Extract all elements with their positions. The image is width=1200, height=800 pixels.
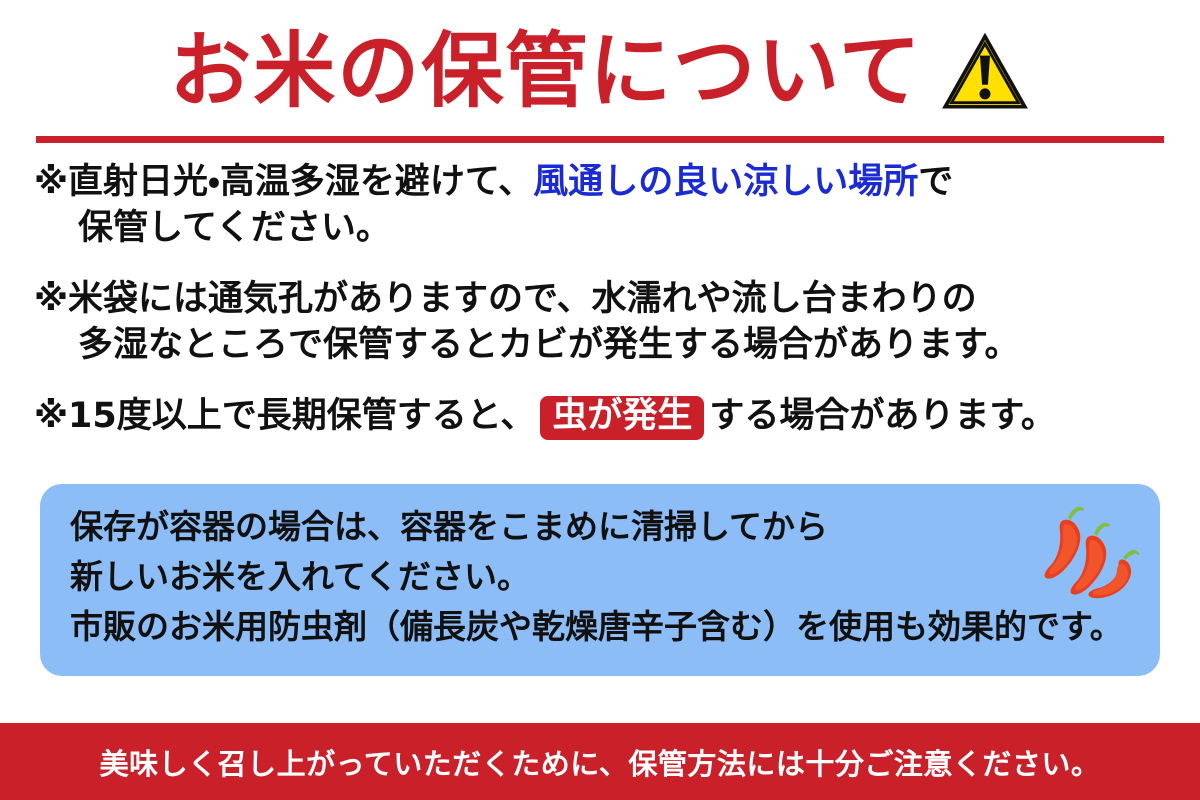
title-divider	[36, 136, 1164, 143]
rice-storage-poster: お米の保管について ※直射日光・高温多湿を避けて、風通しの良い涼しい場所で 保管…	[0, 0, 1200, 800]
note-3-badge-insect-warning: 虫が発生	[540, 396, 704, 440]
note-item-3: ※15度以上で長期保管すると、虫が発生する場合があります。	[0, 394, 1200, 440]
note-item-1: ※直射日光・高温多湿を避けて、風通しの良い涼しい場所で 保管してください。	[0, 160, 1200, 251]
note-1-suffix: で	[918, 162, 953, 202]
note-2-line-1: ※米袋には通気孔がありますので、水濡れや流し台まわりの	[34, 277, 1166, 323]
warning-triangle-icon	[939, 30, 1031, 114]
note-1-line-1: ※直射日光・高温多湿を避けて、風通しの良い涼しい場所で	[34, 160, 1166, 206]
page-title-text: お米の保管について	[169, 31, 923, 113]
note-1-line-2: 保管してください。	[34, 206, 1166, 252]
note-3-suffix: する場合があります。	[709, 396, 1056, 436]
info-panel: 保存が容器の場合は、容器をこまめに清掃してから 新しいお米を入れてください。 市…	[40, 484, 1160, 676]
notes-list: ※直射日光・高温多湿を避けて、風通しの良い涼しい場所で 保管してください。 ※米…	[0, 160, 1200, 466]
note-item-2: ※米袋には通気孔がありますので、水濡れや流し台まわりの 多湿なところで保管すると…	[0, 277, 1200, 368]
note-3-prefix: ※15度以上で長期保管すると、	[34, 396, 535, 436]
info-panel-line-2: 新しいお米を入れてください。	[70, 552, 1130, 602]
note-3-line-1: ※15度以上で長期保管すると、虫が発生する場合があります。	[34, 394, 1166, 440]
footer-text: 美味しく召し上がっていただくために、保管方法には十分ご注意ください。	[100, 741, 1101, 783]
note-1-prefix: ※直射日光・高温多湿を避けて、	[34, 162, 533, 202]
chili-peppers-icon	[1028, 498, 1146, 606]
page-title: お米の保管について	[0, 18, 1200, 126]
info-panel-line-1: 保存が容器の場合は、容器をこまめに清掃してから	[70, 502, 1130, 552]
footer-bar: 美味しく召し上がっていただくために、保管方法には十分ご注意ください。	[0, 723, 1200, 800]
info-panel-line-3: 市販のお米用防虫剤（備長炭や乾燥唐辛子含む）を使用も効果的です。	[70, 602, 1130, 652]
note-1-highlight-blue: 風通しの良い涼しい場所	[533, 162, 918, 202]
note-2-line-2: 多湿なところで保管するとカビが発生する場合があります。	[34, 323, 1166, 369]
